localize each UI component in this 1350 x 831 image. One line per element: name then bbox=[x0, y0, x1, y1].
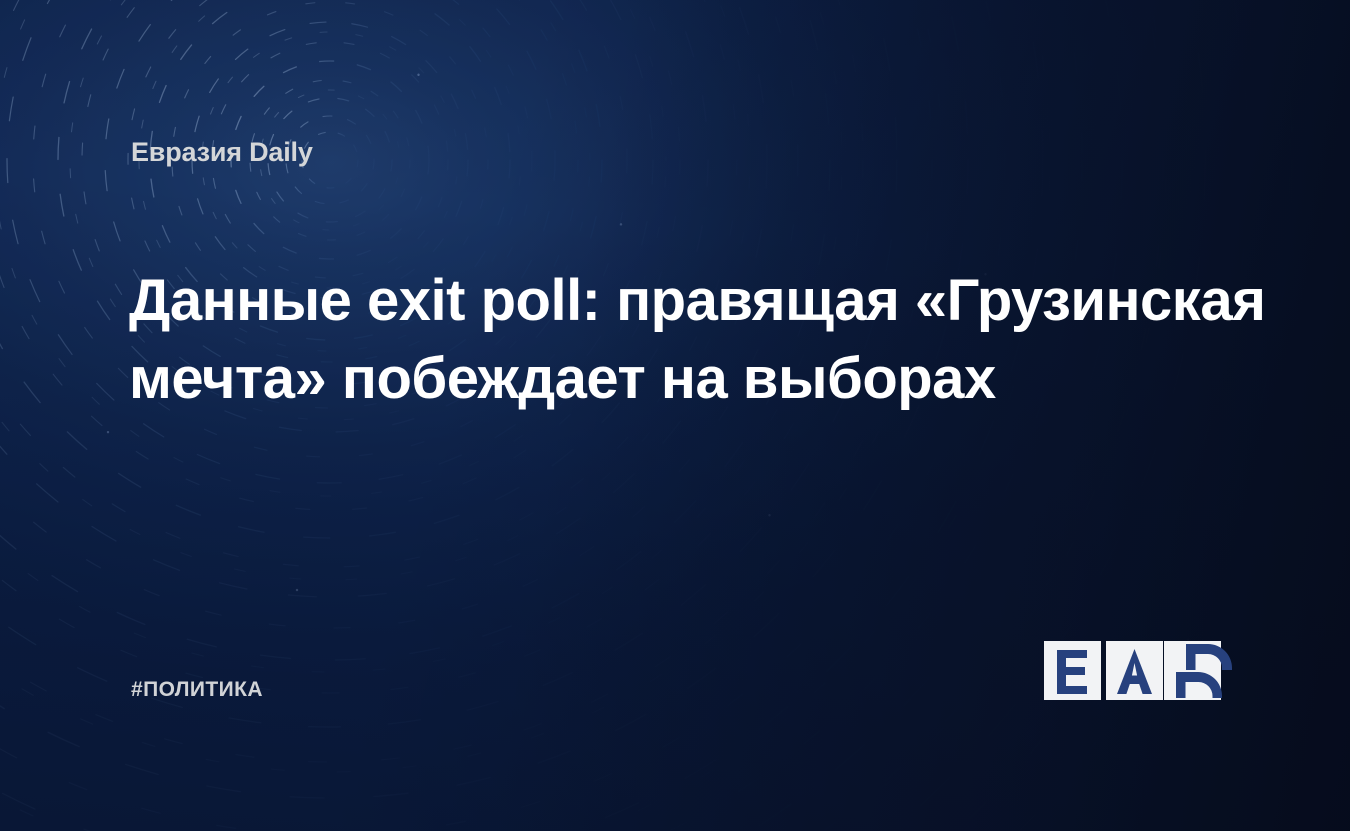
card-content: Евразия Daily Данные exit poll: правящая… bbox=[0, 0, 1350, 831]
eadaily-logo[interactable] bbox=[1044, 641, 1224, 701]
page-title: Данные exit poll: правящая «Грузинская м… bbox=[129, 262, 1219, 418]
headline-line-1: Данные exit poll: правящая «Грузинская bbox=[129, 262, 1219, 340]
logo-letter-a-icon bbox=[1106, 641, 1163, 700]
brand-name: Евразия Daily bbox=[131, 137, 313, 168]
headline-line-2: мечта» побеждает на выборах bbox=[129, 340, 1219, 418]
news-card: Евразия Daily Данные exit poll: правящая… bbox=[0, 0, 1350, 831]
logo-letter-d-icon bbox=[1164, 641, 1221, 700]
logo-letter-e-icon bbox=[1044, 641, 1101, 700]
topic-tag[interactable]: #ПОЛИТИКА bbox=[131, 678, 263, 702]
